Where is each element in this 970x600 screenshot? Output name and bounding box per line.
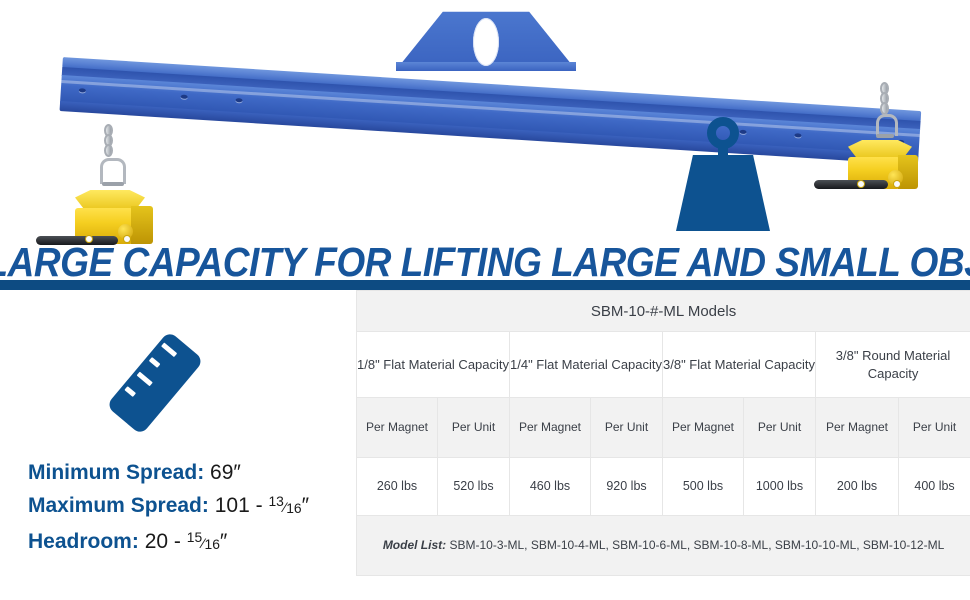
beam-bolt-hole xyxy=(235,98,242,102)
shackle-icon xyxy=(100,158,126,184)
spec-minimum-spread: Minimum Spread: 69″ xyxy=(28,458,356,487)
table-group-header-row: 1/8" Flat Material Capacity 1/4" Flat Ma… xyxy=(357,332,970,398)
shackle-icon xyxy=(876,114,898,136)
spec-maximum-spread: Maximum Spread: 101 - 13⁄16″ xyxy=(28,487,356,523)
group-header-flat-3-8: 3/8" Flat Material Capacity xyxy=(663,332,816,398)
capacity-table: SBM-10-#-ML Models 1/8" Flat Material Ca… xyxy=(356,290,970,576)
table-subheader-row: Per Magnet Per Unit Per Magnet Per Unit … xyxy=(357,398,970,458)
spec-value-whole: 20 - xyxy=(145,530,187,553)
inch-mark: ″ xyxy=(220,530,227,553)
subheader-per-magnet: Per Magnet xyxy=(510,398,591,458)
capacity-value: 200 lbs xyxy=(816,458,899,516)
model-list-label: Model List: xyxy=(383,538,446,552)
subheader-per-magnet: Per Magnet xyxy=(663,398,744,458)
ruler-icon xyxy=(106,331,204,436)
capacity-value: 400 lbs xyxy=(899,458,970,516)
lower-section: Minimum Spread: 69″ Maximum Spread: 101 … xyxy=(0,290,970,600)
capacity-value: 520 lbs xyxy=(438,458,510,516)
spec-label: Minimum Spread: xyxy=(28,461,204,484)
spec-value-whole: 101 - xyxy=(215,494,269,517)
left-spec-panel: Minimum Spread: 69″ Maximum Spread: 101 … xyxy=(0,290,356,600)
group-header-round-3-8: 3/8" Round Material Capacity xyxy=(816,332,970,398)
table-title-row: SBM-10-#-ML Models xyxy=(357,291,970,332)
group-header-flat-1-4: 1/4" Flat Material Capacity xyxy=(510,332,663,398)
spec-value-fraction: 13⁄16 xyxy=(268,499,301,515)
spec-label: Headroom: xyxy=(28,530,139,553)
chain-link-icon xyxy=(104,144,113,157)
spec-label: Maximum Spread: xyxy=(28,494,209,517)
model-list-cell: Model List: SBM-10-3-ML, SBM-10-4-ML, SB… xyxy=(357,516,970,576)
spec-list: Minimum Spread: 69″ Maximum Spread: 101 … xyxy=(28,458,356,559)
spec-headroom: Headroom: 20 - 15⁄16″ xyxy=(28,523,356,559)
table-model-list-row: Model List: SBM-10-3-ML, SBM-10-4-ML, SB… xyxy=(357,516,970,576)
model-list-values: SBM-10-3-ML, SBM-10-4-ML, SBM-10-6-ML, S… xyxy=(446,538,944,552)
bail-eye-slot xyxy=(473,18,499,66)
headline-band: LARGE CAPACITY FOR LIFTING LARGE AND SMA… xyxy=(0,240,970,282)
subheader-per-unit: Per Unit xyxy=(899,398,970,458)
capacity-value: 920 lbs xyxy=(591,458,663,516)
subheader-per-unit: Per Unit xyxy=(438,398,510,458)
inch-mark: ″ xyxy=(302,494,309,517)
table-value-row: 260 lbs 520 lbs 460 lbs 920 lbs 500 lbs … xyxy=(357,458,970,516)
shackle-pin xyxy=(102,182,124,186)
capacity-value: 1000 lbs xyxy=(744,458,816,516)
magnet-screw xyxy=(894,181,900,187)
group-header-flat-1-8: 1/8" Flat Material Capacity xyxy=(357,332,510,398)
spec-value-fraction: 15⁄16 xyxy=(187,535,220,551)
capacity-value: 500 lbs xyxy=(663,458,744,516)
subheader-per-unit: Per Unit xyxy=(744,398,816,458)
magnet-handle xyxy=(814,180,888,189)
capacity-value: 260 lbs xyxy=(357,458,438,516)
subheader-per-magnet: Per Magnet xyxy=(816,398,899,458)
capacity-value: 460 lbs xyxy=(510,458,591,516)
spec-value: 69″ xyxy=(210,461,241,484)
divider-bar xyxy=(0,280,970,290)
subheader-per-unit: Per Unit xyxy=(591,398,663,458)
shackle-pin xyxy=(876,134,894,138)
page-title: LARGE CAPACITY FOR LIFTING LARGE AND SMA… xyxy=(0,240,970,285)
subheader-per-magnet: Per Magnet xyxy=(357,398,438,458)
table-title: SBM-10-#-ML Models xyxy=(357,291,970,332)
beam-bolt-hole xyxy=(739,130,746,134)
magnet-screw xyxy=(858,181,864,187)
